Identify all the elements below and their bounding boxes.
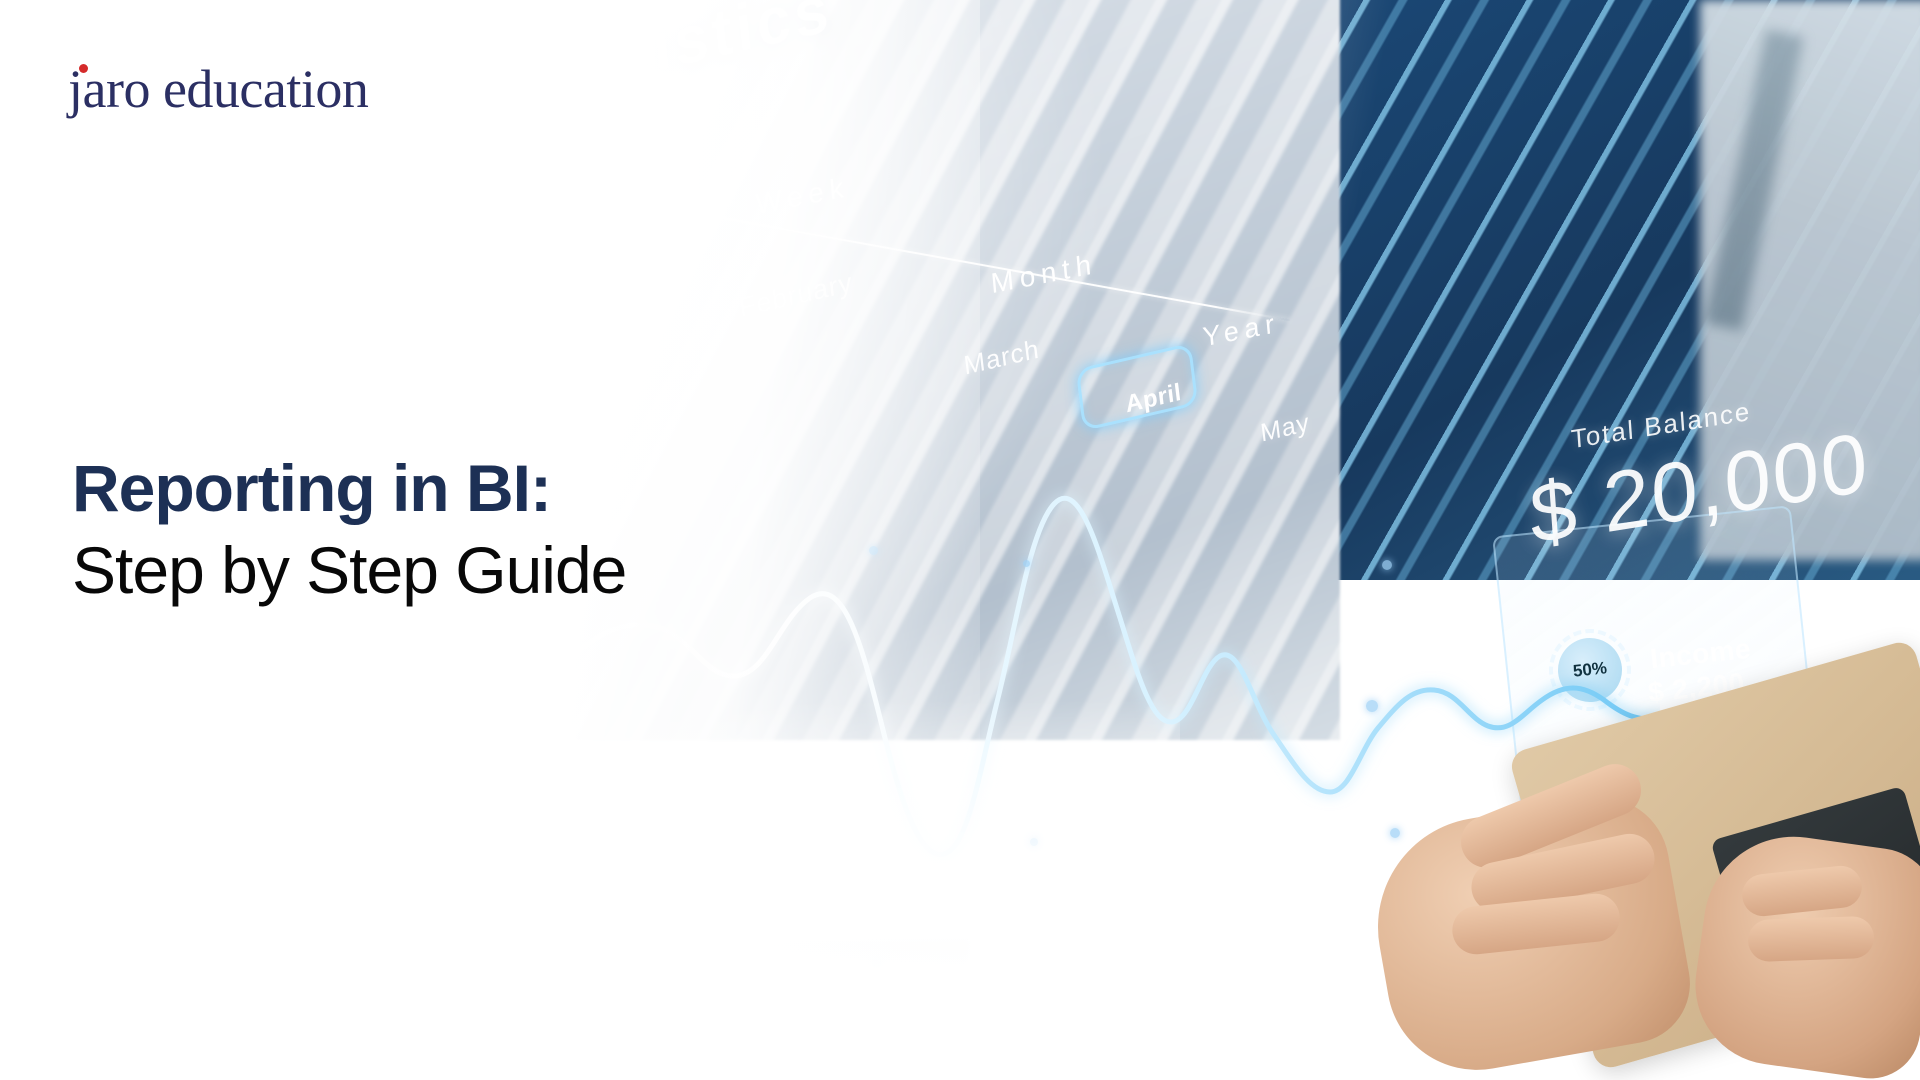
page-title-line1: Reporting in BI:: [72, 452, 1072, 526]
brand-logo-text: jaro education: [68, 59, 368, 119]
logo-dot-icon: [79, 64, 88, 73]
page-title-line2: Step by Step Guide: [72, 532, 1072, 610]
bottom-white-gradient: [0, 700, 1180, 1080]
hero-banner: Statistics Week Month Year February Marc…: [0, 0, 1920, 1080]
page-title: Reporting in BI: Step by Step Guide: [72, 452, 1072, 610]
right-middle-finger: [1747, 916, 1874, 962]
brand-logo[interactable]: jaro education: [68, 58, 368, 120]
